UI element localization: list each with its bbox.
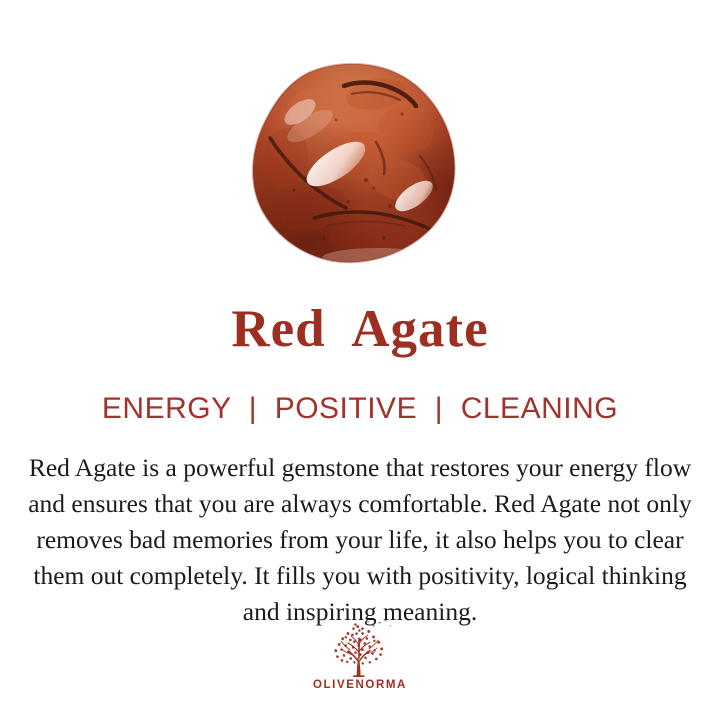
hero-image-area: [0, 0, 720, 285]
red-agate-stone-image: [248, 60, 460, 270]
product-description: Red Agate is a powerful gemstone that re…: [18, 450, 702, 630]
tree-of-life-icon: [323, 618, 397, 678]
brand-logo: OLIVENORMA: [0, 618, 720, 691]
keyword-subtitle: ENERGY | POSITIVE | CLEANING: [0, 392, 720, 426]
product-info-card: Red Agate ENERGY | POSITIVE | CLEANING R…: [0, 0, 720, 720]
brand-name: OLIVENORMA: [313, 679, 407, 691]
red-agate-stone-graphic: [248, 60, 460, 270]
page-title: Red Agate: [0, 300, 720, 358]
